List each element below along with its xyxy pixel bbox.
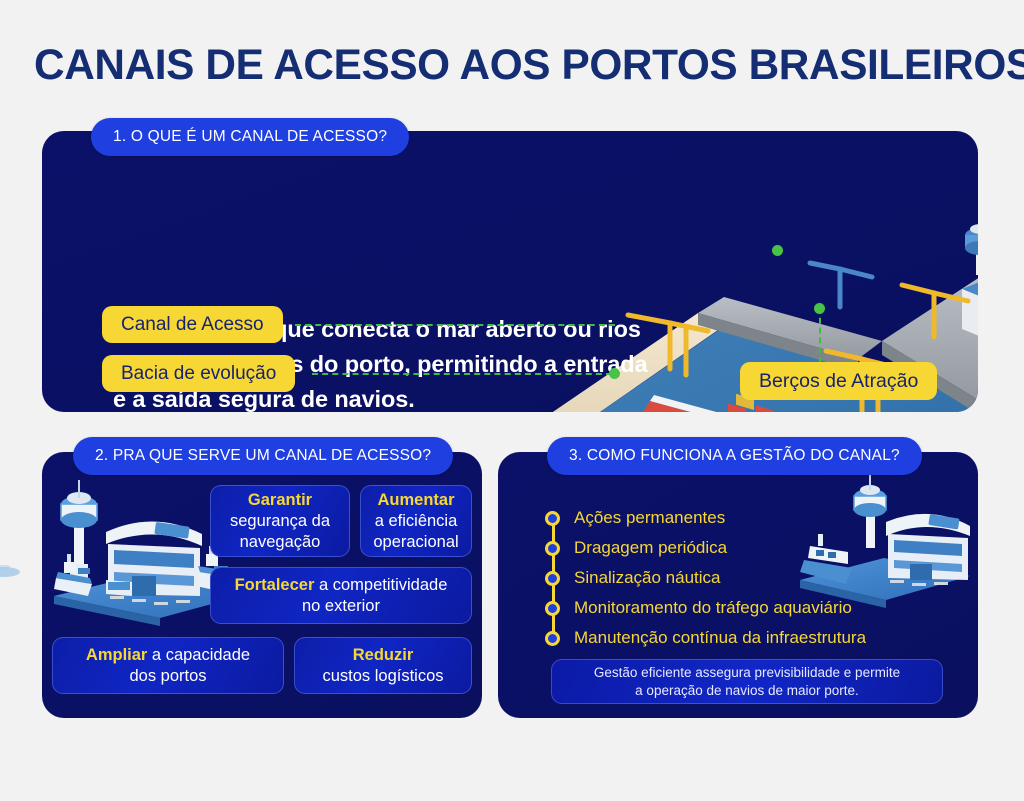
benefit-highlight-aumentar: Aumentar bbox=[373, 490, 458, 511]
list-item-label: Dragagem periódica bbox=[574, 538, 727, 558]
management-note-line1: Gestão eficiente assegura previsibilidad… bbox=[594, 665, 900, 680]
decorative-boat-shape bbox=[0, 556, 32, 586]
panel1-heading-label: 1. O QUE É UM CANAL DE ACESSO? bbox=[113, 128, 387, 146]
list-item-label: Manutenção contínua da infraestrutura bbox=[574, 628, 866, 648]
benefit-text-reduzir-l1: custos logísticos bbox=[322, 666, 443, 687]
list-item[interactable]: Sinalização náutica bbox=[545, 563, 866, 593]
benefit-text-fortalecer-l2: no exterior bbox=[235, 596, 448, 617]
panel3-heading-pill[interactable]: 3. COMO FUNCIONA A GESTÃO DO CANAL? bbox=[547, 437, 922, 475]
management-note-line2: a operação de navios de maior porte. bbox=[635, 683, 859, 698]
panel3-heading-label: 3. COMO FUNCIONA A GESTÃO DO CANAL? bbox=[569, 447, 900, 465]
list-item[interactable]: Ações permanentes bbox=[545, 503, 866, 533]
leader-dot-bacia bbox=[609, 368, 620, 379]
footer: MINISTÉRIO DE PORTOS E AEROPORTOS GOVERN… bbox=[0, 740, 1024, 800]
leader-dot-canal bbox=[772, 245, 783, 256]
panel2-heading-label: 2. PRA QUE SERVE UM CANAL DE ACESSO? bbox=[95, 447, 431, 465]
benefit-text-ampliar-l2: dos portos bbox=[86, 666, 250, 687]
benefit-text-ampliar-l1: a capacidade bbox=[147, 646, 250, 664]
label-canal-de-acesso[interactable]: Canal de Acesso bbox=[102, 306, 283, 343]
benefit-box-garantir[interactable]: Garantir segurança da navegação bbox=[210, 485, 350, 557]
leader-dot-bercos bbox=[814, 303, 825, 314]
list-item[interactable]: Manutenção contínua da infraestrutura bbox=[545, 623, 866, 653]
label-bercos-de-atracao[interactable]: Berços de Atração bbox=[740, 362, 937, 400]
list-item[interactable]: Monitoramento do tráfego aquaviário bbox=[545, 593, 866, 623]
benefit-box-aumentar[interactable]: Aumentar a eficiência operacional bbox=[360, 485, 472, 557]
benefit-text-garantir-l1: segurança da bbox=[230, 511, 330, 532]
management-actions-list: Ações permanentes Dragagem periódica Sin… bbox=[545, 503, 866, 653]
leader-line-bercos-de-atracao bbox=[819, 308, 821, 363]
benefit-text-fortalecer-l1: a competitividade bbox=[314, 576, 447, 594]
benefit-highlight-ampliar: Ampliar bbox=[86, 646, 147, 664]
benefit-box-reduzir[interactable]: Reduzir custos logísticos bbox=[294, 637, 472, 694]
management-note: Gestão eficiente assegura previsibilidad… bbox=[551, 659, 943, 704]
leader-line-canal-de-acesso bbox=[295, 324, 615, 326]
list-item-label: Monitoramento do tráfego aquaviário bbox=[574, 598, 852, 618]
list-item-label: Ações permanentes bbox=[574, 508, 725, 528]
benefit-text-aumentar-l2: operacional bbox=[373, 532, 458, 553]
page-title: CANAIS DE ACESSO AOS PORTOS BRASILEIROS bbox=[34, 41, 980, 90]
infographic-page: CANAIS DE ACESSO AOS PORTOS BRASILEIROS bbox=[0, 0, 1024, 801]
panel2-heading-pill[interactable]: 2. PRA QUE SERVE UM CANAL DE ACESSO? bbox=[73, 437, 453, 475]
bullet-icon bbox=[545, 511, 560, 526]
benefit-text-aumentar-l1: a eficiência bbox=[373, 511, 458, 532]
benefit-text-garantir-l2: navegação bbox=[230, 532, 330, 553]
list-item-label: Sinalização náutica bbox=[574, 568, 720, 588]
label-bacia-de-evolucao[interactable]: Bacia de evolução bbox=[102, 355, 295, 392]
bullet-icon bbox=[545, 601, 560, 616]
bullet-icon bbox=[545, 541, 560, 556]
benefit-highlight-fortalecer: Fortalecer bbox=[235, 576, 315, 594]
panel1-heading-pill[interactable]: 1. O QUE É UM CANAL DE ACESSO? bbox=[91, 118, 409, 156]
bullet-icon bbox=[545, 571, 560, 586]
leader-line-bacia-de-evolucao bbox=[312, 373, 612, 375]
list-item[interactable]: Dragagem periódica bbox=[545, 533, 866, 563]
benefit-box-ampliar[interactable]: Ampliar a capacidade dos portos bbox=[52, 637, 284, 694]
benefit-highlight-reduzir: Reduzir bbox=[322, 645, 443, 666]
bullet-icon bbox=[545, 631, 560, 646]
benefit-highlight-garantir: Garantir bbox=[230, 490, 330, 511]
benefit-box-fortalecer[interactable]: Fortalecer a competitividade no exterior bbox=[210, 567, 472, 624]
